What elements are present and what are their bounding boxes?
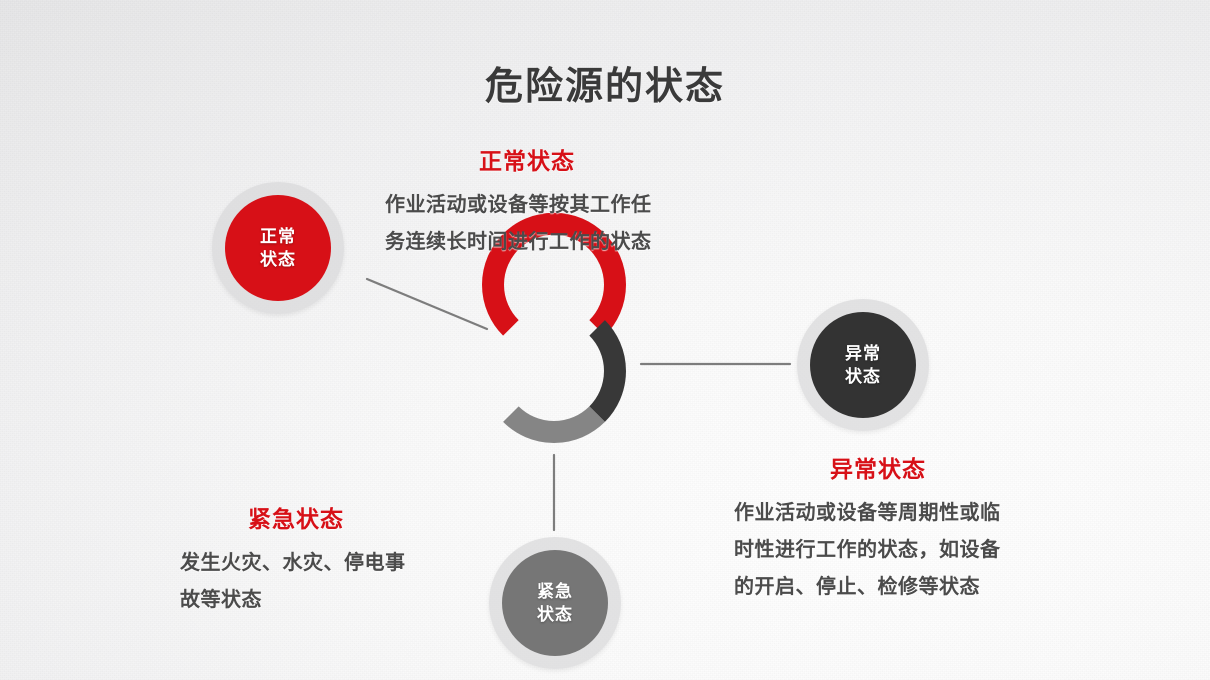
slide-canvas: 危险源的状态 正常 状态 异常 状态: [0, 0, 1210, 680]
description-urgent-heading: 紧急状态: [180, 500, 406, 534]
description-normal: 正常状态 作业活动或设备等按其工作任 务连续长时间进行工作的状态: [385, 142, 652, 261]
description-normal-line1: 作业活动或设备等按其工作任: [385, 187, 652, 224]
bubble-normal-line2: 状态: [260, 248, 296, 271]
description-urgent-body: 发生火灾、水灾、停电事 故等状态: [180, 545, 406, 619]
bubble-normal-line1: 正常: [260, 225, 296, 248]
description-urgent-line2: 故等状态: [180, 582, 406, 619]
bubble-normal-fill: 正常 状态: [225, 195, 331, 301]
description-normal-heading: 正常状态: [385, 142, 652, 176]
bubble-abnormal-line1: 异常: [845, 342, 881, 365]
description-normal-body: 作业活动或设备等按其工作任 务连续长时间进行工作的状态: [385, 187, 652, 261]
bubble-urgent-line1: 紧急: [537, 580, 573, 603]
bubble-abnormal-state[interactable]: 异常 状态: [797, 299, 929, 431]
bubble-abnormal-line2: 状态: [845, 365, 881, 388]
description-urgent-line1: 发生火灾、水灾、停电事: [180, 545, 406, 582]
description-abnormal: 异常状态 作业活动或设备等周期性或临 时性进行工作的状态，如设备 的开启、停止、…: [734, 450, 1001, 606]
bubble-normal-state[interactable]: 正常 状态: [212, 182, 344, 314]
description-abnormal-line2: 时性进行工作的状态，如设备: [734, 532, 1001, 569]
connector-normal: [367, 279, 487, 329]
bubble-abnormal-fill: 异常 状态: [810, 312, 916, 418]
bubble-urgent-fill: 紧急 状态: [502, 550, 608, 656]
description-abnormal-body: 作业活动或设备等周期性或临 时性进行工作的状态，如设备 的开启、停止、检修等状态: [734, 495, 1001, 606]
donut-segment-abnormal: [597, 328, 615, 414]
description-abnormal-line3: 的开启、停止、检修等状态: [734, 569, 1001, 606]
description-abnormal-line1: 作业活动或设备等周期性或临: [734, 495, 1001, 532]
description-abnormal-heading: 异常状态: [734, 450, 1001, 484]
description-normal-line2: 务连续长时间进行工作的状态: [385, 224, 652, 261]
bubble-urgent-state[interactable]: 紧急 状态: [489, 537, 621, 669]
description-urgent: 紧急状态 发生火灾、水灾、停电事 故等状态: [180, 500, 406, 619]
bubble-urgent-line2: 状态: [537, 603, 573, 626]
donut-segment-urgent: [511, 414, 597, 432]
